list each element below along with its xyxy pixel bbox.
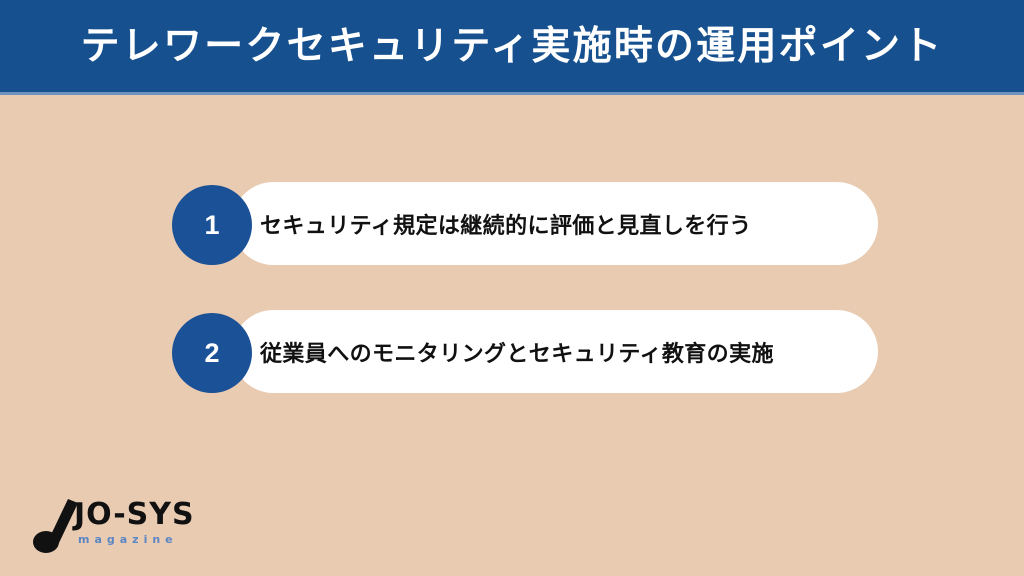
list-item: 2 従業員へのモニタリングとセキュリティ教育の実施 — [172, 310, 878, 393]
point-text: セキュリティ規定は継続的に評価と見直しを行う — [260, 182, 751, 265]
logo-wordmark: JO-SYS magazine — [74, 500, 195, 545]
header-underline — [0, 92, 1024, 95]
points-list: 1 セキュリティ規定は継続的に評価と見直しを行う 2 従業員へのモニタリングとセ… — [172, 182, 878, 438]
point-number-badge: 1 — [172, 185, 252, 265]
slide-canvas: テレワークセキュリティ実施時の運用ポイント 1 セキュリティ規定は継続的に評価と… — [0, 0, 1024, 576]
page-title: テレワークセキュリティ実施時の運用ポイント — [81, 27, 944, 66]
point-number-badge: 2 — [172, 313, 252, 393]
brand-logo: JO-SYS magazine — [32, 497, 222, 555]
point-text: 従業員へのモニタリングとセキュリティ教育の実施 — [260, 310, 774, 393]
header-banner: テレワークセキュリティ実施時の運用ポイント — [0, 0, 1024, 92]
music-note-icon — [32, 499, 78, 553]
list-item: 1 セキュリティ規定は継続的に評価と見直しを行う — [172, 182, 878, 265]
logo-name: JO-SYS — [74, 500, 195, 530]
logo-subtitle: magazine — [78, 534, 195, 545]
